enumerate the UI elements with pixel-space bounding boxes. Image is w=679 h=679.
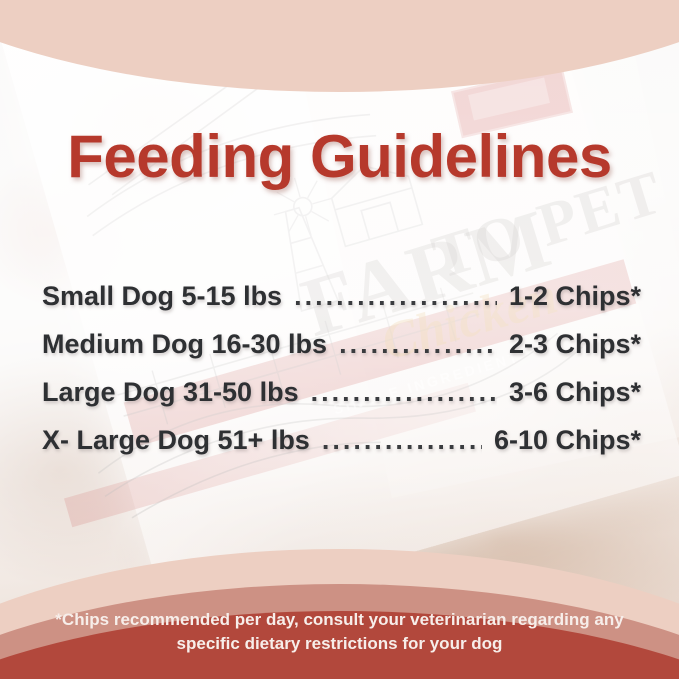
feeding-table: Small Dog 5-15 lbs .....................… [42, 281, 641, 473]
row-value-xlarge-dog: 6-10 Chips* [494, 425, 641, 456]
row-label-large-dog: Large Dog 31-50 lbs [42, 377, 299, 408]
row-label-small-dog: Small Dog 5-15 lbs [42, 281, 282, 312]
row-value-small-dog: 1-2 Chips* [509, 281, 641, 312]
table-row: Medium Dog 16-30 lbs ...................… [42, 329, 641, 377]
table-row: Large Dog 31-50 lbs ....................… [42, 377, 641, 425]
table-row: Small Dog 5-15 lbs .....................… [42, 281, 641, 329]
row-value-large-dog: 3-6 Chips* [509, 377, 641, 408]
footnote-text: *Chips recommended per day, consult your… [0, 608, 679, 657]
row-leader-dots: ........................... [294, 283, 497, 310]
row-label-medium-dog: Medium Dog 16-30 lbs [42, 329, 327, 360]
page-title: Feeding Guidelines [0, 122, 679, 191]
row-leader-dots: ........................... [322, 427, 482, 454]
content-layer: Feeding Guidelines Small Dog 5-15 lbs ..… [0, 0, 679, 679]
table-row: X- Large Dog 51+ lbs ...................… [42, 425, 641, 473]
row-leader-dots: ........................... [311, 379, 497, 406]
row-leader-dots: ........................... [339, 331, 497, 358]
feeding-guidelines-card: NEW Value Bag [0, 0, 679, 679]
row-value-medium-dog: 2-3 Chips* [509, 329, 641, 360]
row-label-xlarge-dog: X- Large Dog 51+ lbs [42, 425, 310, 456]
